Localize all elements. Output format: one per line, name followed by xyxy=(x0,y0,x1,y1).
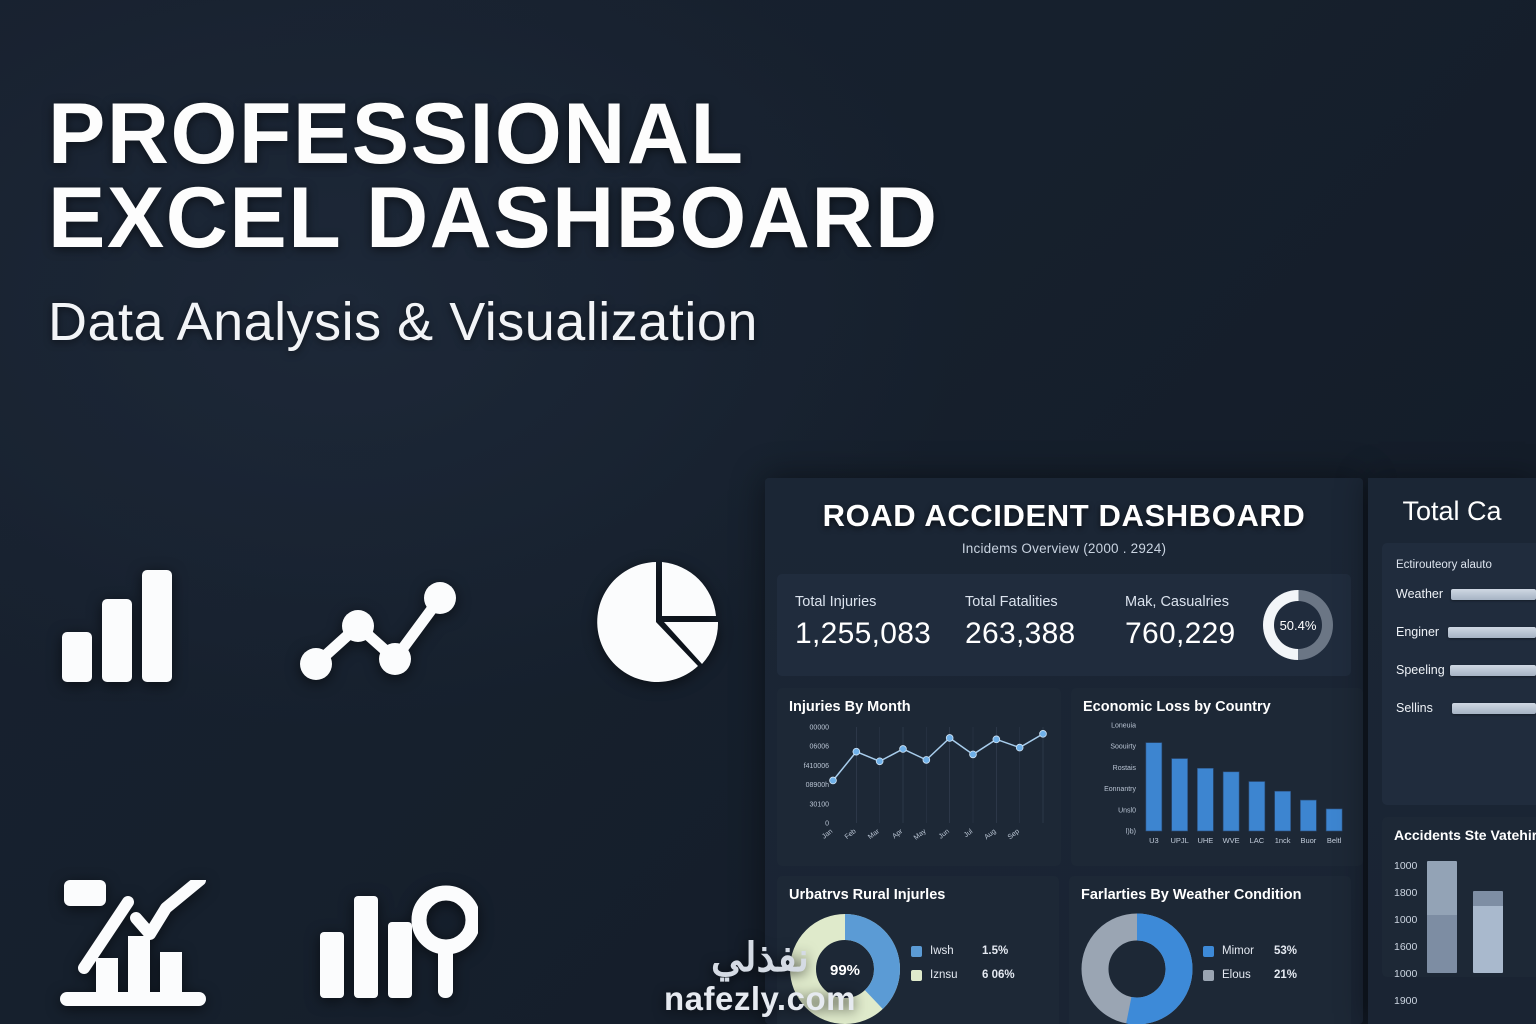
pie-chart-icon xyxy=(590,560,730,689)
svg-text:Unsl0: Unsl0 xyxy=(1118,807,1136,814)
svg-text:UPJL: UPJL xyxy=(1170,836,1188,845)
kpi-label: Total Injuries xyxy=(795,594,965,610)
svg-text:Beltl: Beltl xyxy=(1327,836,1342,845)
bars-group xyxy=(1427,853,1503,973)
economic-loss-by-country-card: Economic Loss by Country l)b)Unsl0Eonnan… xyxy=(1071,688,1363,866)
svg-text:f410006: f410006 xyxy=(804,763,829,770)
svg-text:Aug: Aug xyxy=(983,828,997,841)
svg-text:Apr: Apr xyxy=(891,828,904,841)
legend-value: 53% xyxy=(1274,945,1297,957)
accidents-bar xyxy=(1473,891,1503,973)
kpi-label: Total Fatalities xyxy=(965,594,1125,610)
line-chart-plot: 03010008900hf4100060600600000JanFebMarAp… xyxy=(789,721,1049,853)
legend-label: Iwsh xyxy=(930,945,982,957)
bar-chart-search-icon xyxy=(318,884,478,1015)
svg-text:Jun: Jun xyxy=(938,828,951,841)
watermark-latin: nafezly.com xyxy=(664,980,856,1018)
svg-text:00000: 00000 xyxy=(810,725,830,732)
chart-title: Economic Loss by Country xyxy=(1083,699,1351,715)
gauge-ring: 50.4% xyxy=(1263,590,1333,660)
cause-bar xyxy=(1448,627,1536,638)
cause-row-weather: Weather xyxy=(1396,587,1536,601)
accidents-bar-chart: 1000 1800 1000 1600 1000 1900 xyxy=(1394,853,1536,1015)
kpi-value: 263,388 xyxy=(965,617,1125,651)
svg-text:l)b): l)b) xyxy=(1126,829,1136,836)
svg-text:06006: 06006 xyxy=(810,744,830,751)
side-header: Total Ca xyxy=(1368,478,1536,537)
svg-text:Jul: Jul xyxy=(963,828,975,839)
title-line-1: PROFESSIONAL xyxy=(48,86,745,182)
legend-item: Iwsh 1.5% xyxy=(911,945,1015,957)
legend-item: Iznsu 6 06% xyxy=(911,969,1015,981)
svg-text:Feb: Feb xyxy=(844,828,858,841)
legend-item: Elous 21% xyxy=(1203,969,1297,981)
svg-text:Loneuia: Loneuia xyxy=(1111,723,1136,730)
side-note: Ectirouteory alauto xyxy=(1396,559,1536,571)
charts-row: Injuries By Month 03010008900hf410006060… xyxy=(777,688,1351,866)
svg-text:0: 0 xyxy=(825,821,829,828)
svg-text:U3: U3 xyxy=(1149,836,1159,845)
svg-text:Eonnantry: Eonnantry xyxy=(1104,786,1136,793)
svg-text:Soouirty: Soouirty xyxy=(1110,744,1136,751)
percentage-gauge: 50.4% xyxy=(1263,590,1333,660)
y-axis-ticks: 1000 1800 1000 1600 1000 1900 xyxy=(1394,853,1417,1015)
icon-row-bottom xyxy=(58,880,478,1015)
kpi-card: Total Injuries 1,255,083 Total Fatalitie… xyxy=(777,574,1351,676)
svg-text:Mar: Mar xyxy=(867,828,881,841)
legend-swatch xyxy=(1203,970,1214,981)
svg-text:08900h: 08900h xyxy=(806,782,829,789)
bar-chart-plot: l)b)Unsl0EonnantryRostaisSoouirtyLoneuia… xyxy=(1083,721,1351,853)
dashboard-title: ROAD ACCIDENT DASHBOARD xyxy=(765,498,1363,534)
weather-donut xyxy=(1081,913,1193,1024)
cause-bar xyxy=(1452,703,1536,714)
svg-text:Buor: Buor xyxy=(1300,836,1316,845)
cause-label: Sellins xyxy=(1396,701,1452,715)
svg-text:1nck: 1nck xyxy=(1275,836,1291,845)
cause-label: Enginer xyxy=(1396,625,1448,639)
cause-label: Weather xyxy=(1396,587,1451,601)
tick-label: 1000 xyxy=(1394,853,1417,880)
chart-title: Injuries By Month xyxy=(789,699,1049,715)
cause-row-speeding: Speeling xyxy=(1396,663,1536,677)
chart-title: Farlarties By Weather Condition xyxy=(1081,887,1339,903)
icon-row-top xyxy=(58,560,730,689)
page-title: PROFESSIONAL EXCEL DASHBOARD xyxy=(48,92,1198,261)
svg-text:Sep: Sep xyxy=(1007,828,1021,841)
cause-bar xyxy=(1450,665,1536,676)
line-chart-icon xyxy=(300,564,480,689)
total-casualties-panel: Total Ca Ectirouteory alauto Weather Eng… xyxy=(1368,478,1536,1024)
kpi-total-fatalities: Total Fatalities 263,388 xyxy=(965,594,1125,651)
legend-swatch xyxy=(911,946,922,957)
legend-swatch xyxy=(911,970,922,981)
title-line-2: EXCEL DASHBOARD xyxy=(48,176,1198,260)
poster-background: PROFESSIONAL EXCEL DASHBOARD Data Analys… xyxy=(0,0,1536,1024)
tick-label: 1000 xyxy=(1394,961,1417,988)
side-title: Total Ca xyxy=(1368,496,1536,527)
legend: Mimor 53% Elous 21% xyxy=(1203,945,1297,993)
tick-label: 1600 xyxy=(1394,934,1417,961)
svg-text:30100: 30100 xyxy=(810,801,830,808)
watermark-logo: نفذلي nafezly.com xyxy=(664,938,856,1018)
cause-bar xyxy=(1451,589,1536,600)
accidents-state-card: Accidents Ste Vatehir 1000 1800 1000 160… xyxy=(1382,817,1536,977)
legend-value: 21% xyxy=(1274,969,1297,981)
fatalities-by-weather-card: Farlarties By Weather Condition Mimor 53… xyxy=(1069,876,1351,1024)
cause-row-engineer: Enginer xyxy=(1396,625,1536,639)
kpi-value: 1,255,083 xyxy=(795,617,965,651)
chart-title: Urbatrvs Rural Injurles xyxy=(789,887,1047,903)
svg-text:LAC: LAC xyxy=(1250,836,1265,845)
analytics-growth-icon xyxy=(58,880,208,1015)
donut-with-legend: Mimor 53% Elous 21% xyxy=(1081,913,1339,1024)
cause-row-sellins: Sellins xyxy=(1396,701,1536,715)
legend-value: 6 06% xyxy=(982,969,1015,981)
legend-item: Mimor 53% xyxy=(1203,945,1297,957)
promo-text-block: PROFESSIONAL EXCEL DASHBOARD Data Analys… xyxy=(48,92,1198,353)
causes-card: Ectirouteory alauto Weather Enginer Spee… xyxy=(1382,543,1536,805)
legend-swatch xyxy=(1203,946,1214,957)
dashboard-header: ROAD ACCIDENT DASHBOARD Incidems Overvie… xyxy=(765,478,1363,560)
legend-label: Mimor xyxy=(1222,945,1274,957)
dashboard-subtitle: Incidems Overview (2000 . 2924) xyxy=(765,541,1363,556)
page-subtitle: Data Analysis & Visualization xyxy=(48,291,1198,353)
injuries-by-month-card: Injuries By Month 03010008900hf410006060… xyxy=(777,688,1061,866)
watermark-arabic: نفذلي xyxy=(664,938,856,978)
legend: Iwsh 1.5% Iznsu 6 06% xyxy=(911,945,1015,993)
svg-text:Jan: Jan xyxy=(821,828,834,841)
svg-text:UHE: UHE xyxy=(1197,836,1213,845)
tick-label: 1900 xyxy=(1394,988,1417,1015)
legend-value: 1.5% xyxy=(982,945,1008,957)
gauge-value: 50.4% xyxy=(1274,601,1322,649)
chart-title: Accidents Ste Vatehir xyxy=(1394,827,1536,843)
legend-label: Elous xyxy=(1222,969,1274,981)
legend-label: Iznsu xyxy=(930,969,982,981)
tick-label: 1800 xyxy=(1394,880,1417,907)
bar-chart-icon xyxy=(58,564,190,689)
cause-label: Speeling xyxy=(1396,663,1450,677)
accidents-bar xyxy=(1427,861,1457,973)
kpi-total-injuries: Total Injuries 1,255,083 xyxy=(795,594,965,651)
svg-text:WVE: WVE xyxy=(1223,836,1240,845)
svg-text:Rostais: Rostais xyxy=(1113,765,1137,772)
svg-text:May: May xyxy=(913,828,928,842)
donuts-row: Urbatrvs Rural Injurles 99% Iwsh 1.5% xyxy=(777,876,1351,1024)
tick-label: 1000 xyxy=(1394,907,1417,934)
